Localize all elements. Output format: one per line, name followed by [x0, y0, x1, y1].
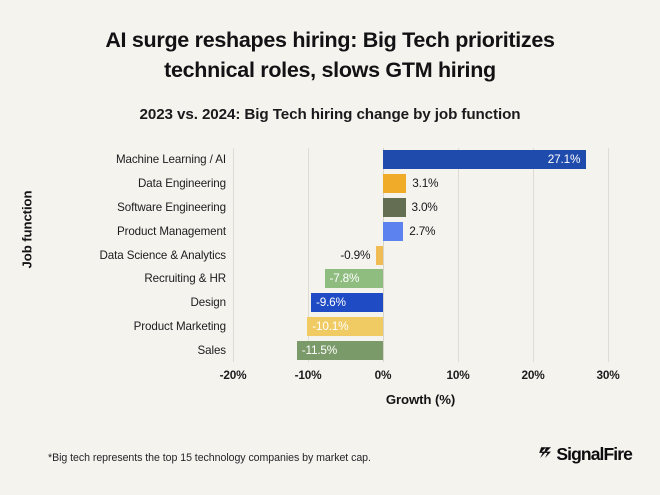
bar[interactable] [383, 222, 403, 241]
y-axis-title: Job function [20, 170, 35, 290]
category-label: Design [46, 296, 226, 309]
gridline-20 [533, 148, 534, 362]
bar-value-label: -11.5% [302, 341, 337, 360]
bar[interactable] [383, 174, 406, 193]
footnote: *Big tech represents the top 15 technolo… [48, 452, 371, 464]
bar-chart: Machine Learning / AIData EngineeringSof… [0, 0, 660, 495]
category-label: Software Engineering [46, 201, 226, 214]
category-label: Sales [46, 344, 226, 357]
logo-wordmark: SignalFire [556, 446, 632, 463]
signalfire-logo: SignalFire [539, 446, 632, 463]
category-label: Product Management [46, 225, 226, 238]
category-label: Data Science & Analytics [46, 249, 226, 262]
x-tick-label: 30% [578, 368, 638, 382]
signalfire-chevron-mark [539, 446, 554, 463]
x-tick-label: 20% [503, 368, 563, 382]
bar-value-label: 3.0% [412, 198, 438, 217]
gridline-10 [458, 148, 459, 362]
x-tick-label: -20% [203, 368, 263, 382]
category-label: Product Marketing [46, 320, 226, 333]
category-label: Machine Learning / AI [46, 153, 226, 166]
bar-value-label: 2.7% [409, 222, 435, 241]
x-tick-label: -10% [278, 368, 338, 382]
category-axis-labels: Machine Learning / AIData EngineeringSof… [46, 148, 226, 362]
bar-value-label: -9.6% [316, 293, 346, 312]
bar[interactable] [383, 198, 406, 217]
bar-value-label: -10.1% [312, 317, 348, 336]
gridline--20 [233, 148, 234, 362]
x-tick-label: 10% [428, 368, 488, 382]
gridline-30 [608, 148, 609, 362]
x-axis-title: Growth (%) [233, 392, 608, 407]
bar-value-label: 27.1% [534, 150, 580, 169]
bar-value-label: -7.8% [330, 269, 360, 288]
category-label: Data Engineering [46, 177, 226, 190]
x-tick-label: 0% [353, 368, 413, 382]
bar[interactable] [376, 246, 383, 265]
category-label: Recruiting & HR [46, 272, 226, 285]
bar-value-label: 3.1% [412, 174, 438, 193]
bar-value-label: -0.9% [326, 246, 370, 265]
